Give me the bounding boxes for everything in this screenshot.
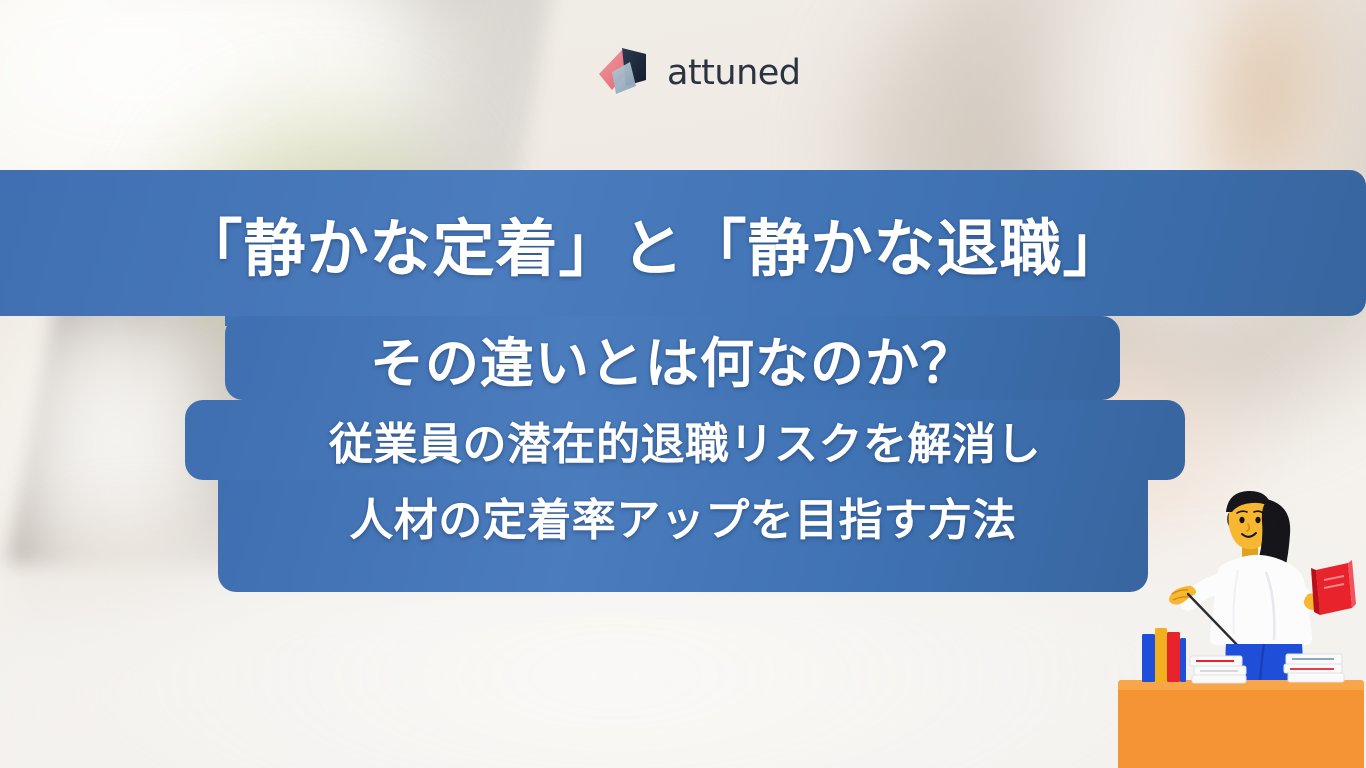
stacked-books-center [1190, 656, 1246, 683]
eye-right [1255, 517, 1260, 523]
subhead-text: その違いとは何なのか？ [370, 319, 975, 398]
held-book [1311, 560, 1356, 615]
subhead-band: その違いとは何なのか？ [225, 316, 1120, 400]
illustration-woman [1169, 491, 1356, 682]
attuned-logo[interactable]: attuned [596, 42, 801, 100]
lead-text-1: 従業員の潜在的退職リスクを解消し [329, 408, 1041, 472]
lead-band-2: 人材の定着率アップを目指す方法 [218, 480, 1148, 592]
eye-left [1239, 517, 1244, 523]
stacked-books-right [1284, 654, 1344, 682]
lead-text-2: 人材の定着率アップを目指す方法 [349, 484, 1017, 548]
woman-teacher-illustration [1116, 468, 1366, 768]
attuned-wordmark: attuned [667, 56, 801, 91]
headline-band: 「静かな定着」と「静かな退職」 [0, 170, 1366, 316]
standing-books-left [1142, 628, 1186, 682]
desk [1118, 680, 1364, 768]
attuned-prism-logo-icon [596, 42, 658, 100]
hero-banner-image: attuned 「静かな定着」と「静かな退職」 その違いとは何なのか？ 従業員の… [0, 0, 1366, 768]
lead-band-1: 従業員の潜在的退職リスクを解消し [185, 400, 1185, 480]
headline-text: 「静かな定着」と「静かな退職」 [180, 198, 1125, 288]
